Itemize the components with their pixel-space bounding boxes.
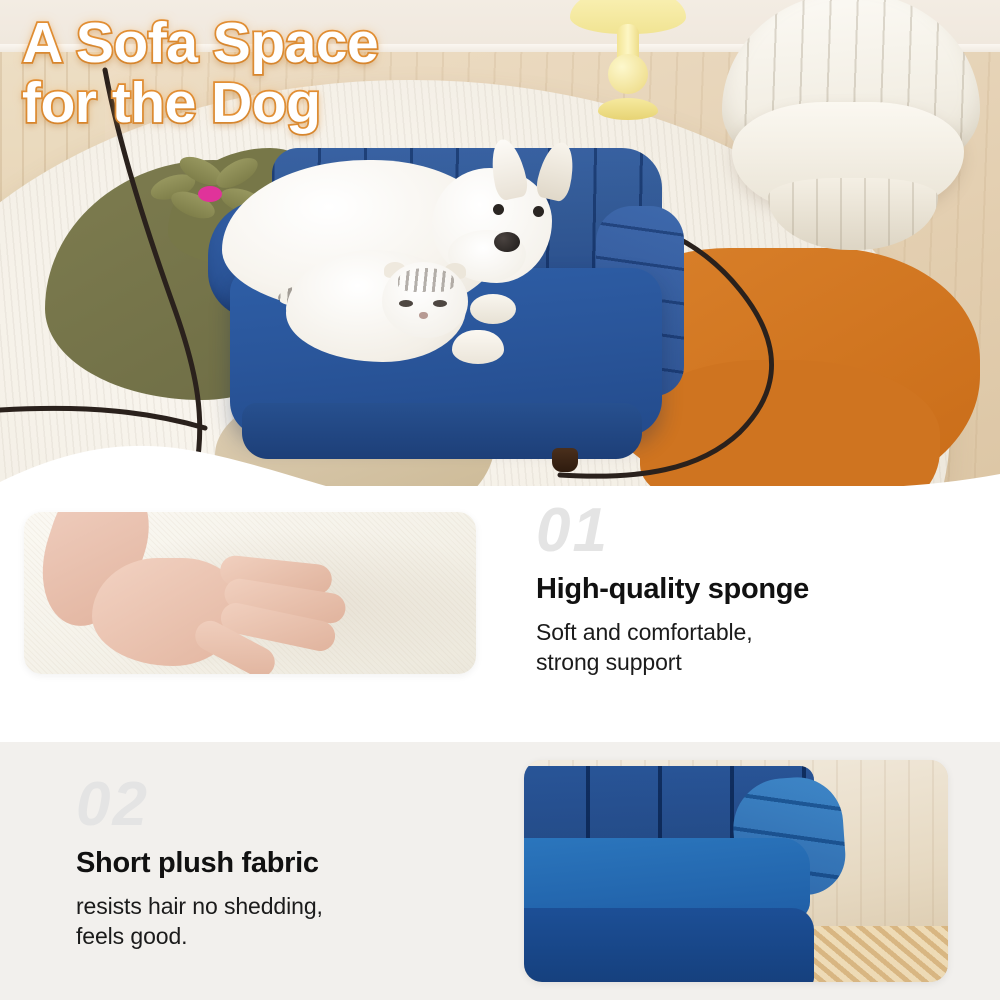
dog-paw-front bbox=[452, 330, 504, 364]
feature-01-text-block: 01 High-quality sponge Soft and comforta… bbox=[536, 500, 976, 678]
woven-mat bbox=[792, 926, 948, 982]
feature-01-desc-line2: strong support bbox=[536, 649, 682, 675]
feature-02-desc-line1: resists hair no shedding, bbox=[76, 893, 323, 919]
feature-01-number: 01 bbox=[536, 500, 976, 562]
feature-section-01: 01 High-quality sponge Soft and comforta… bbox=[0, 486, 1000, 734]
feature-02-number: 02 bbox=[76, 774, 506, 836]
feature-02-description: resists hair no shedding, feels good. bbox=[76, 892, 506, 952]
cream-accent-chair bbox=[716, 0, 986, 262]
dog-right-eye bbox=[533, 206, 544, 217]
feature-02-title: Short plush fabric bbox=[76, 848, 506, 880]
product-infographic-page: 01 High-quality sponge Soft and comforta… bbox=[0, 0, 1000, 1000]
feature-01-desc-line1: Soft and comfortable, bbox=[536, 619, 753, 645]
feature-01-title: High-quality sponge bbox=[536, 574, 976, 606]
feature-section-02: 02 Short plush fabric resists hair no sh… bbox=[0, 742, 1000, 1000]
headline-line-1: A Sofa Space bbox=[22, 11, 378, 75]
cat-nose bbox=[419, 312, 428, 319]
cat-forehead-stripes bbox=[398, 268, 454, 292]
dog-nose bbox=[494, 232, 520, 252]
dog-paw-rear bbox=[470, 294, 516, 324]
feature-02-desc-line2: feels good. bbox=[76, 923, 187, 949]
cat-left-eye bbox=[399, 300, 413, 307]
headline-line-2: for the Dog bbox=[22, 74, 642, 134]
sponge-photo bbox=[24, 512, 476, 674]
dog-left-eye bbox=[493, 204, 504, 215]
cat-right-eye bbox=[433, 300, 447, 307]
chair-base bbox=[768, 178, 938, 250]
fabric-sofa-skirt bbox=[524, 908, 814, 982]
feature-01-description: Soft and comfortable, strong support bbox=[536, 618, 976, 678]
hero-headline: A Sofa Space for the Dog bbox=[22, 14, 642, 134]
fabric-closeup-photo bbox=[524, 760, 948, 982]
feature-02-text-block: 02 Short plush fabric resists hair no sh… bbox=[76, 774, 506, 952]
